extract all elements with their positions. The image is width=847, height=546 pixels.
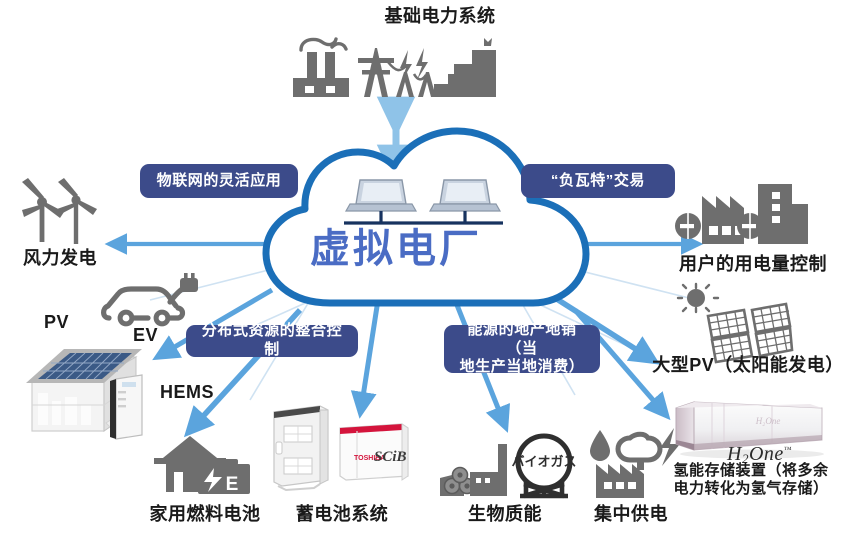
laptop-right: [430, 180, 500, 211]
biomass-biogas-tank-icon: バイオガス: [440, 428, 576, 500]
callout-local-production[interactable]: 能源的地产地销（当 地生产当地消费）: [444, 325, 600, 373]
electric-vehicle-plug-icon: [100, 272, 200, 330]
rooftop-solar-house-icon: [18, 335, 146, 445]
wind-turbine-icon: [10, 180, 106, 246]
callout-local-line2: 地生产当地消费）: [460, 358, 585, 377]
label-battery-system: 蓄电池系统: [276, 504, 408, 525]
label-hydrogen-line1: 氢能存储装置（将多余: [655, 462, 847, 480]
callout-local-line1: 能源的地产地销（当: [455, 321, 589, 359]
label-base-power-system: 基础电力系统: [345, 6, 535, 27]
callout-iot[interactable]: 物联网的灵活应用: [140, 164, 298, 198]
label-district-power: 集中供电: [573, 504, 689, 525]
large-solar-array-icon: [672, 284, 792, 362]
label-mega-pv: 大型PV（太阳能发电）: [650, 355, 846, 376]
unit-side-wordmark: H₂One: [755, 416, 781, 426]
label-demand-control: 用户的用电量控制: [665, 254, 841, 275]
callout-der[interactable]: 分布式资源的整合控制: [186, 325, 358, 357]
callout-negawatt[interactable]: “负瓦特”交易: [521, 164, 675, 198]
battery-cabinet: [274, 406, 328, 490]
label-hydrogen-line2: 电力转化为氢气存储）: [655, 480, 847, 498]
label-biomass: 生物质能: [447, 504, 563, 525]
home-battery-unit: [110, 375, 142, 439]
laptop-left: [346, 180, 416, 211]
arrow-to-battery: [362, 300, 378, 403]
label-home-fuel-cell: 家用燃料电池: [130, 504, 280, 525]
biogas-tank-text: バイオガス: [511, 454, 576, 469]
factory-building-control-icon: [672, 178, 808, 250]
label-hems: HEMS: [160, 382, 214, 403]
scib-wordmark: SCiB: [374, 449, 407, 465]
vpp-diagram: 虚拟电厂 基础电力系统: [0, 0, 847, 546]
label-pv: PV: [44, 312, 69, 333]
battery-cabinet-icon: TOSHIBA SCiB: [262, 398, 412, 490]
page-title: 虚拟电厂: [310, 216, 482, 274]
house-battery-icon: E: [150, 428, 258, 500]
label-hydrogen-storage: 氢能存储装置（将多余 电力转化为氢气存储）: [655, 462, 847, 497]
battery-badge-E: E: [226, 474, 239, 495]
biogas-tank: バイオガス: [511, 436, 576, 496]
power-plant-transmission-city-icon: [288, 28, 503, 108]
label-wind-power: 风力发电: [8, 248, 112, 269]
